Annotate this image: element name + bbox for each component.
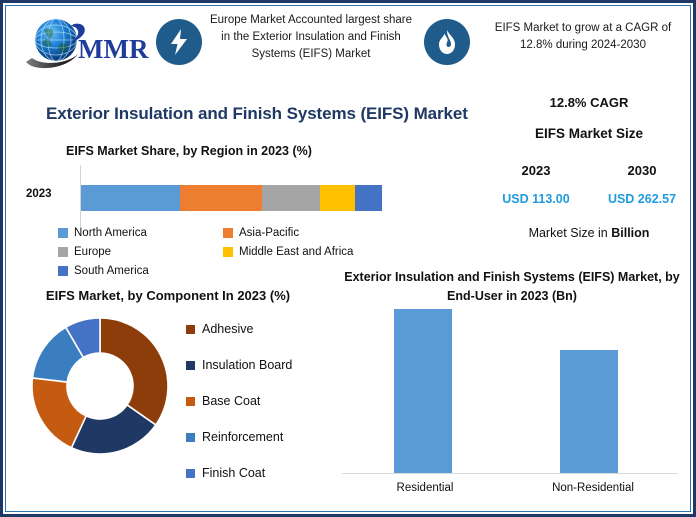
region-legend-item[interactable]: Asia-Pacific bbox=[223, 223, 388, 242]
legend-swatch-icon bbox=[186, 397, 195, 406]
component-legend-item[interactable]: Base Coat bbox=[186, 383, 326, 419]
component-legend-label: Finish Coat bbox=[202, 466, 265, 480]
region-legend-item[interactable]: South America bbox=[58, 261, 223, 280]
legend-swatch-icon bbox=[223, 247, 233, 257]
region-segment-3 bbox=[320, 185, 355, 211]
unit-prefix: Market Size in bbox=[529, 226, 612, 240]
region-segment-2 bbox=[262, 185, 321, 211]
end-user-bar-1 bbox=[560, 350, 618, 473]
component-legend-item[interactable]: Reinforcement bbox=[186, 419, 326, 455]
end-user-x-labels: ResidentialNon-Residential bbox=[342, 482, 678, 494]
region-segment-0 bbox=[81, 185, 180, 211]
region-legend-item[interactable]: Middle East and Africa bbox=[223, 242, 388, 261]
infographic-page: MMR Europe Market Accounted largest shar… bbox=[0, 0, 696, 517]
region-share-chart: EIFS Market Share, by Region in 2023 (%)… bbox=[8, 140, 408, 285]
logo-text: MMR bbox=[78, 34, 149, 64]
cagr-value: 12.8% CAGR bbox=[490, 95, 688, 110]
legend-swatch-icon bbox=[58, 228, 68, 238]
legend-swatch-icon bbox=[186, 325, 195, 334]
region-chart-title: EIFS Market Share, by Region in 2023 (%) bbox=[66, 144, 312, 158]
region-category-label: 2023 bbox=[26, 188, 52, 200]
region-legend-label: Middle East and Africa bbox=[239, 246, 353, 258]
page-title: Exterior Insulation and Finish Systems (… bbox=[46, 104, 486, 124]
globe-swoosh-logo-icon: MMR bbox=[22, 14, 162, 76]
component-legend-label: Reinforcement bbox=[202, 430, 283, 444]
unit-bold: Billion bbox=[611, 226, 649, 240]
legend-swatch-icon bbox=[186, 361, 195, 370]
region-legend-item[interactable]: North America bbox=[58, 223, 223, 242]
end-user-chart-title: Exterior Insulation and Finish Systems (… bbox=[342, 268, 682, 306]
component-legend-item[interactable]: Adhesive bbox=[186, 311, 326, 347]
year-2023-label: 2023 bbox=[492, 163, 580, 178]
header: MMR Europe Market Accounted largest shar… bbox=[8, 8, 688, 84]
region-segment-4 bbox=[355, 185, 382, 211]
region-legend-label: Asia-Pacific bbox=[239, 227, 299, 239]
component-legend-item[interactable]: Finish Coat bbox=[186, 455, 326, 491]
market-size-unit: Market Size in Billion bbox=[490, 226, 688, 240]
region-legend-label: South America bbox=[74, 265, 149, 277]
end-user-x-label: Non-Residential bbox=[508, 482, 678, 494]
region-legend-label: Europe bbox=[74, 246, 111, 258]
market-size-panel: 12.8% CAGR EIFS Market Size 2023 USD 113… bbox=[490, 88, 688, 256]
header-block-cagr-text: EIFS Market to grow at a CAGR of 12.8% d… bbox=[480, 20, 686, 54]
end-user-plot-area bbox=[342, 308, 678, 474]
end-user-chart: Exterior Insulation and Finish Systems (… bbox=[334, 266, 690, 512]
legend-swatch-icon bbox=[186, 433, 195, 442]
region-stacked-bar bbox=[81, 185, 382, 211]
component-legend: AdhesiveInsulation BoardBase CoatReinfor… bbox=[186, 311, 326, 491]
end-user-baseline bbox=[342, 473, 678, 474]
mmr-logo[interactable]: MMR bbox=[22, 14, 162, 76]
region-legend-label: North America bbox=[74, 227, 147, 239]
component-legend-item[interactable]: Insulation Board bbox=[186, 347, 326, 383]
value-2023: USD 113.00 bbox=[490, 192, 582, 206]
market-size-label: EIFS Market Size bbox=[490, 126, 688, 141]
legend-swatch-icon bbox=[58, 247, 68, 257]
region-segment-1 bbox=[180, 185, 261, 211]
region-legend-item[interactable]: Europe bbox=[58, 242, 223, 261]
legend-swatch-icon bbox=[223, 228, 233, 238]
legend-swatch-icon bbox=[58, 266, 68, 276]
year-2030-label: 2030 bbox=[598, 163, 686, 178]
end-user-bar-0 bbox=[394, 309, 452, 473]
end-user-x-label: Residential bbox=[342, 482, 508, 494]
component-donut bbox=[30, 316, 170, 456]
flame-icon bbox=[424, 19, 470, 65]
component-share-chart: EIFS Market, by Component In 2023 (%) Ad… bbox=[8, 286, 328, 512]
legend-swatch-icon bbox=[186, 469, 195, 478]
value-2030: USD 262.57 bbox=[596, 192, 688, 206]
lightning-bolt-icon bbox=[156, 19, 202, 65]
component-legend-label: Base Coat bbox=[202, 394, 260, 408]
header-block-europe-text: Europe Market Accounted largest share in… bbox=[208, 12, 414, 63]
component-chart-title: EIFS Market, by Component In 2023 (%) bbox=[20, 288, 316, 303]
component-legend-label: Adhesive bbox=[202, 322, 253, 336]
component-legend-label: Insulation Board bbox=[202, 358, 292, 372]
